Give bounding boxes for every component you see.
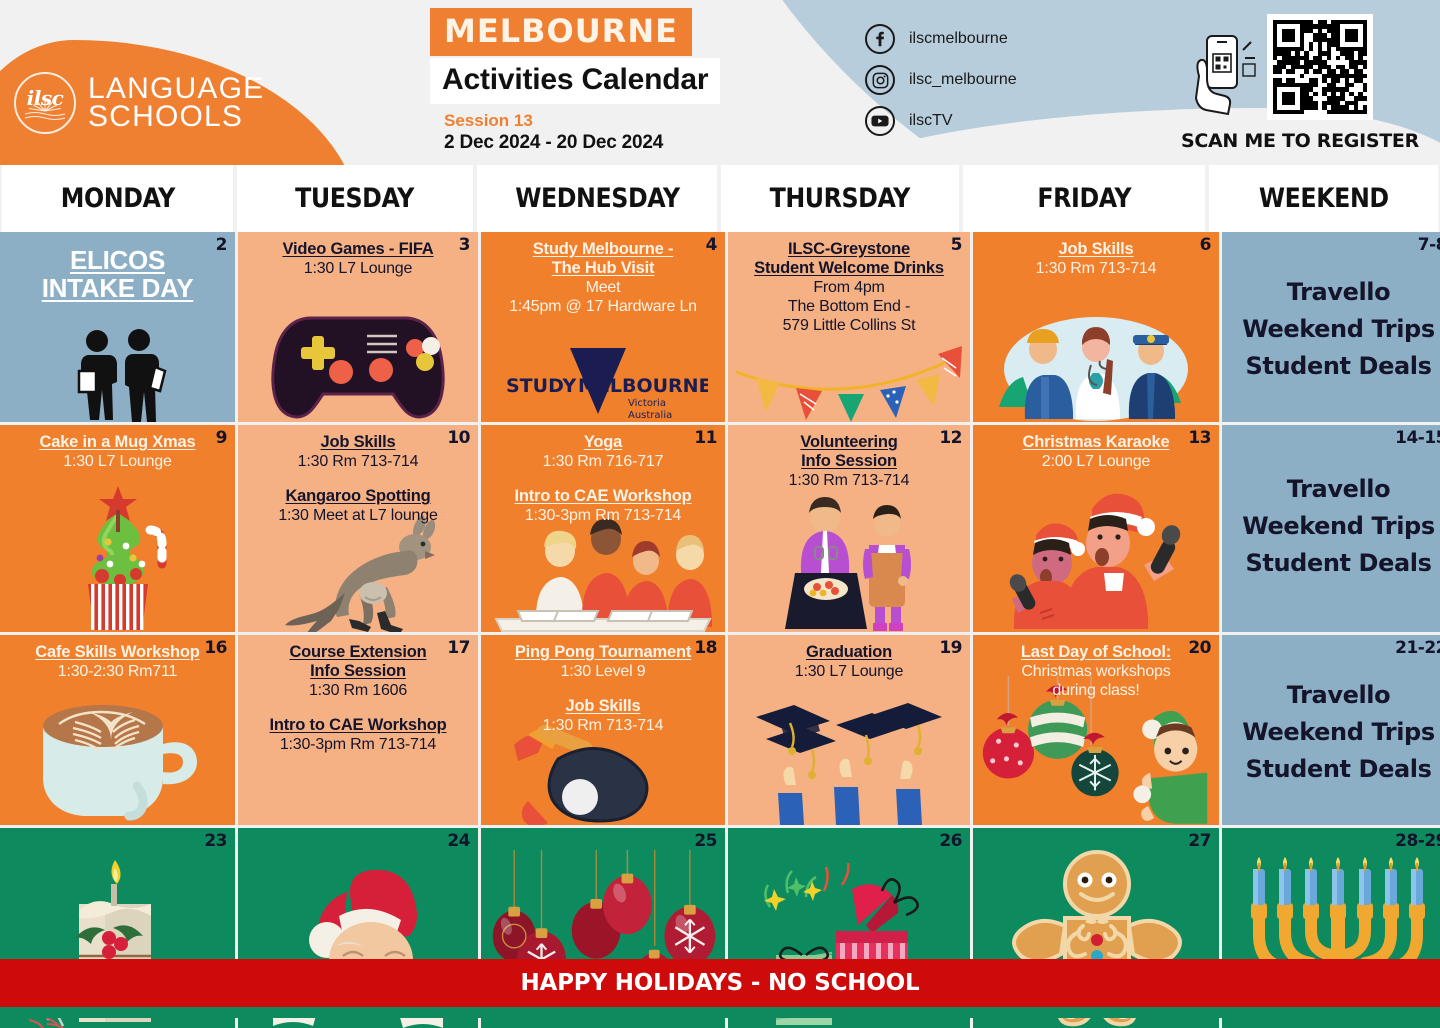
day-content: Course ExtensionInfo Session1:30 Rm 1606… (244, 641, 472, 754)
latte-cup-icon (0, 690, 235, 825)
calendar-day-cell[interactable]: 11Yoga1:30 Rm 716-717Intro to CAE Worksh… (481, 425, 725, 632)
event-spacer (487, 683, 719, 697)
event-title: Ping Pong Tournament (487, 643, 719, 662)
event-title: Course ExtensionInfo Session (244, 643, 472, 681)
holiday-banner: HAPPY HOLIDAYS - NO SCHOOL (0, 959, 1440, 1007)
day-content: ILSC-GreystoneStudent Welcome DrinksFrom… (734, 238, 964, 336)
event-title: Intro to CAE Workshop (487, 487, 719, 506)
event-details: 1:30-2:30 Rm711 (6, 662, 229, 681)
title-block: MELBOURNE Activities Calendar Session 13… (430, 8, 720, 154)
travello-promo: TravelloWeekend TripsStudent Deals (1228, 471, 1440, 583)
event-item[interactable]: VolunteeringInfo Session1:30 Rm 713-714 (734, 433, 964, 490)
travello-line: Student Deals (1228, 751, 1440, 788)
event-details: 1:30 L7 Lounge (244, 259, 472, 278)
event-details: 1:30 Meet at L7 lounge (244, 506, 472, 525)
event-title: VolunteeringInfo Session (734, 433, 964, 471)
event-details: 1:30 L7 Lounge (6, 452, 229, 471)
day-content: Ping Pong Tournament1:30 Level 9Job Skil… (487, 641, 719, 735)
city-badge: MELBOURNE (430, 8, 692, 56)
graduation-caps-icon (728, 695, 970, 825)
logo-line-2: SCHOOLS (88, 103, 264, 132)
day-number: 23 (204, 831, 227, 851)
event-spacer (244, 702, 472, 716)
day-content: Video Games - FIFA1:30 L7 Lounge (244, 238, 472, 278)
study-melbourne-logo: STUDYMELBOURNEVictoriaAustralia (481, 346, 725, 422)
event-title: Yoga (487, 433, 719, 452)
calendar-day-cell[interactable]: 14-15TravelloWeekend TripsStudent Deals (1222, 425, 1440, 632)
day-number: 24 (447, 831, 470, 851)
weekday-label: FRIDAY (1037, 183, 1131, 214)
two-students-icon (0, 327, 235, 422)
day-headline: ELICOSINTAKE DAY (6, 246, 229, 302)
day-number: 27 (1188, 831, 1211, 851)
event-item[interactable]: Cake in a Mug Xmas1:30 L7 Lounge (6, 433, 229, 471)
weekday-label: MONDAY (60, 183, 174, 214)
calendar-day-cell[interactable]: 17Course ExtensionInfo Session1:30 Rm 16… (238, 635, 478, 825)
travello-promo: TravelloWeekend TripsStudent Deals (1228, 274, 1440, 386)
event-item[interactable]: Study Melbourne -The Hub VisitMeet1:45pm… (487, 240, 719, 316)
event-item[interactable]: Intro to CAE Workshop1:30-3pm Rm 713-714 (487, 487, 719, 525)
day-content: Cake in a Mug Xmas1:30 L7 Lounge (6, 431, 229, 471)
day-number: 16 (204, 638, 227, 658)
event-item[interactable]: Kangaroo Spotting1:30 Meet at L7 lounge (244, 487, 472, 525)
weekday-header-weekend: WEEKEND (1209, 165, 1438, 232)
event-item[interactable]: Cafe Skills Workshop1:30-2:30 Rm711 (6, 643, 229, 681)
event-item[interactable]: Christmas Karaoke2:00 L7 Lounge (979, 433, 1213, 471)
social-links: ilscmelbourne ilsc_melbourne ilscTV (865, 24, 1017, 147)
day-content: TravelloWeekend TripsStudent Deals (1228, 431, 1440, 583)
day-content: Graduation1:30 L7 Lounge (734, 641, 964, 681)
event-title: Job Skills (979, 240, 1213, 259)
day-content (734, 834, 964, 836)
day-content: Christmas Karaoke2:00 L7 Lounge (979, 431, 1213, 471)
weekday-header-tuesday: TUESDAY (237, 165, 473, 232)
event-details: 1:30 Rm 713-714 (734, 471, 964, 490)
page-title: Activities Calendar (430, 58, 720, 104)
travello-line: Weekend Trips (1228, 508, 1440, 545)
instagram-handle: ilsc_melbourne (909, 71, 1017, 89)
event-title: Job Skills (487, 697, 719, 716)
event-details: 1:30 Rm 1606 (244, 681, 472, 700)
day-content: TravelloWeekend TripsStudent Deals (1228, 641, 1440, 789)
volunteers-icon (728, 497, 970, 632)
svg-text:MELBOURNE: MELBOURNE (578, 375, 708, 397)
day-number: 7-8 (1418, 235, 1440, 255)
event-details: 1:30 Rm 713-714 (487, 716, 719, 735)
day-number: 10 (447, 428, 470, 448)
calendar-day-cell[interactable]: 4Study Melbourne -The Hub VisitMeet1:45p… (481, 232, 725, 422)
travello-line: Student Deals (1228, 545, 1440, 582)
calendar-day-cell[interactable]: 20Last Day of School:Christmas workshops… (973, 635, 1219, 825)
event-title: Study Melbourne -The Hub Visit (487, 240, 719, 278)
event-title: Christmas Karaoke (979, 433, 1213, 452)
event-spacer (244, 473, 472, 487)
kangaroo-icon (238, 507, 478, 632)
game-controller-icon (238, 302, 478, 422)
event-spacer (487, 473, 719, 487)
svg-text:Victoria: Victoria (628, 398, 666, 409)
calendar-day-cell[interactable]: 9Cake in a Mug Xmas1:30 L7 Lounge (0, 425, 235, 632)
day-number: 4 (706, 235, 717, 255)
calendar-grid: 2ELICOSINTAKE DAY3Video Games - FIFA1:30… (0, 232, 1440, 1028)
weekday-header-thursday: THURSDAY (721, 165, 959, 232)
date-range: 2 Dec 2024 - 20 Dec 2024 (444, 132, 720, 154)
calendar-day-cell[interactable]: 3Video Games - FIFA1:30 L7 Lounge (238, 232, 478, 422)
travello-line: Travello (1228, 471, 1440, 508)
travello-line: Travello (1228, 677, 1440, 714)
christmas-tree-cupcake-icon (0, 484, 235, 632)
hand-holding-phone-icon (1185, 32, 1259, 124)
day-number: 11 (694, 428, 717, 448)
event-details: 2:00 L7 Lounge (979, 452, 1213, 471)
day-content: Cafe Skills Workshop1:30-2:30 Rm711 (6, 641, 229, 681)
calendar-day-cell[interactable]: 19Graduation1:30 L7 Lounge (728, 635, 970, 825)
weekday-header-row: MONDAYTUESDAYWEDNESDAYTHURSDAYFRIDAYWEEK… (0, 165, 1440, 232)
travello-line: Weekend Trips (1228, 714, 1440, 751)
students-studying-icon (481, 517, 725, 632)
day-content: Job Skills1:30 Rm 713-714Kangaroo Spotti… (244, 431, 472, 525)
weekday-header-monday: MONDAY (2, 165, 233, 232)
weekday-label: THURSDAY (770, 183, 910, 214)
social-link-instagram[interactable]: ilsc_melbourne (865, 65, 1017, 95)
calendar-day-cell[interactable]: 7-8TravelloWeekend TripsStudent Deals (1222, 232, 1440, 422)
event-title: Job Skills (244, 433, 472, 452)
day-number: 9 (216, 428, 227, 448)
weekday-label: TUESDAY (296, 183, 415, 214)
day-content (244, 834, 472, 836)
weekday-header-wednesday: WEDNESDAY (477, 165, 717, 232)
holiday-banner-text: HAPPY HOLIDAYS - NO SCHOOL (521, 970, 920, 996)
day-content: Job Skills1:30 Rm 713-714 (979, 238, 1213, 278)
qr-code[interactable] (1267, 14, 1373, 120)
event-item[interactable]: Job Skills1:30 Rm 713-714 (244, 433, 472, 471)
event-item[interactable]: Graduation1:30 L7 Lounge (734, 643, 964, 681)
karaoke-singers-icon (973, 487, 1219, 632)
weekday-label: WEDNESDAY (515, 183, 679, 214)
ilsc-logo[interactable]: ilsc LANGUAGE SCHOOLS (14, 72, 264, 134)
event-details: 1:30 Rm 716-717 (487, 452, 719, 471)
event-details: 1:30 Rm 713-714 (244, 452, 472, 471)
day-number: 26 (939, 831, 962, 851)
logo-line-1: LANGUAGE (88, 75, 264, 104)
day-number: 21-22 (1395, 638, 1440, 658)
event-details: 1:30 Level 9 (487, 662, 719, 681)
weekday-label: WEEKEND (1259, 183, 1389, 214)
youtube-icon (865, 106, 895, 136)
event-item[interactable]: Job Skills1:30 Rm 713-714 (979, 240, 1213, 278)
event-title: Cafe Skills Workshop (6, 643, 229, 662)
event-item[interactable]: Course ExtensionInfo Session1:30 Rm 1606 (244, 643, 472, 700)
travello-line: Weekend Trips (1228, 311, 1440, 348)
day-content (487, 834, 719, 836)
calendar-day-cell[interactable]: 10Job Skills1:30 Rm 713-714Kangaroo Spot… (238, 425, 478, 632)
svg-text:STUDY: STUDY (506, 375, 576, 397)
calendar-day-cell[interactable]: 12VolunteeringInfo Session1:30 Rm 713-71… (728, 425, 970, 632)
day-number: 12 (939, 428, 962, 448)
day-number: 19 (939, 638, 962, 658)
social-link-youtube[interactable]: ilscTV (865, 106, 1017, 136)
event-details: Christmas workshopsduring class! (979, 662, 1213, 700)
day-content (979, 834, 1213, 836)
day-content: TravelloWeekend TripsStudent Deals (1228, 238, 1440, 386)
party-bunting-icon (728, 336, 970, 422)
sunrise-icon (23, 100, 67, 122)
day-content: VolunteeringInfo Session1:30 Rm 713-714 (734, 431, 964, 490)
event-item[interactable]: Last Day of School:Christmas workshopsdu… (979, 643, 1213, 700)
day-number: 17 (447, 638, 470, 658)
day-number: 14-15 (1395, 428, 1440, 448)
event-title: Kangaroo Spotting (244, 487, 472, 506)
event-item[interactable]: Ping Pong Tournament1:30 Level 9 (487, 643, 719, 681)
weekday-header-friday: FRIDAY (963, 165, 1205, 232)
event-item[interactable]: Yoga1:30 Rm 716-717 (487, 433, 719, 471)
session-label: Session 13 (444, 111, 720, 131)
ilsc-roundel-icon: ilsc (14, 72, 76, 134)
calendar-day-cell[interactable]: 6Job Skills1:30 Rm 713-714 (973, 232, 1219, 422)
social-link-facebook[interactable]: ilscmelbourne (865, 24, 1017, 54)
event-title: Intro to CAE Workshop (244, 716, 472, 735)
logo-wordmark: LANGUAGE SCHOOLS (88, 75, 264, 132)
calendar-day-cell[interactable]: 16Cafe Skills Workshop1:30-2:30 Rm711 (0, 635, 235, 825)
event-item[interactable]: Video Games - FIFA1:30 L7 Lounge (244, 240, 472, 278)
page-header: ilsc LANGUAGE SCHOOLS MELBOURNE Activiti… (0, 0, 1440, 165)
day-number: 18 (694, 638, 717, 658)
svg-text:Australia: Australia (628, 410, 672, 421)
day-number: 6 (1200, 235, 1211, 255)
event-item[interactable]: Intro to CAE Workshop1:30-3pm Rm 713-714 (244, 716, 472, 754)
event-details: 1:30 Rm 713-714 (979, 259, 1213, 278)
event-details: 1:30 L7 Lounge (734, 662, 964, 681)
day-number: 13 (1188, 428, 1211, 448)
travello-line: Student Deals (1228, 348, 1440, 385)
travello-promo: TravelloWeekend TripsStudent Deals (1228, 677, 1440, 789)
facebook-icon (865, 24, 895, 54)
day-content: ELICOSINTAKE DAY (6, 238, 229, 302)
day-number: 2 (216, 235, 227, 255)
day-number: 3 (459, 235, 470, 255)
calendar-day-cell[interactable]: 18Ping Pong Tournament1:30 Level 9Job Sk… (481, 635, 725, 825)
day-number: 5 (951, 235, 962, 255)
instagram-icon (865, 65, 895, 95)
event-details: Meet1:45pm @ 17 Hardware Ln (487, 278, 719, 316)
day-content: Study Melbourne -The Hub VisitMeet1:45pm… (487, 238, 719, 316)
youtube-handle: ilscTV (909, 112, 953, 130)
event-details: From 4pmThe Bottom End -579 Little Colli… (734, 278, 964, 336)
event-title: ILSC-GreystoneStudent Welcome Drinks (734, 240, 964, 278)
calendar-day-cell[interactable]: 5ILSC-GreystoneStudent Welcome DrinksFro… (728, 232, 970, 422)
day-number: 20 (1188, 638, 1211, 658)
calendar-day-cell[interactable]: 2ELICOSINTAKE DAY (0, 232, 235, 422)
calendar-day-cell[interactable]: 13Christmas Karaoke2:00 L7 Lounge (973, 425, 1219, 632)
day-content: Yoga1:30 Rm 716-717Intro to CAE Workshop… (487, 431, 719, 525)
event-title: Graduation (734, 643, 964, 662)
event-title: Video Games - FIFA (244, 240, 472, 259)
event-title: Last Day of School: (979, 643, 1213, 662)
day-content: Last Day of School:Christmas workshopsdu… (979, 641, 1213, 700)
workers-trio-icon (973, 307, 1219, 422)
day-number: 25 (694, 831, 717, 851)
event-item[interactable]: ILSC-GreystoneStudent Welcome DrinksFrom… (734, 240, 964, 336)
day-number: 28-29 (1395, 831, 1440, 851)
travello-line: Travello (1228, 274, 1440, 311)
calendar-day-cell[interactable]: 21-22TravelloWeekend TripsStudent Deals (1222, 635, 1440, 825)
day-content (6, 834, 229, 836)
event-details: 1:30-3pm Rm 713-714 (244, 735, 472, 754)
scan-me-label: SCAN ME TO REGISTER (1181, 130, 1419, 152)
event-item[interactable]: Job Skills1:30 Rm 713-714 (487, 697, 719, 735)
event-title: Cake in a Mug Xmas (6, 433, 229, 452)
event-details: 1:30-3pm Rm 713-714 (487, 506, 719, 525)
banner-bottom-strip (0, 1007, 1440, 1018)
facebook-handle: ilscmelbourne (909, 30, 1008, 48)
